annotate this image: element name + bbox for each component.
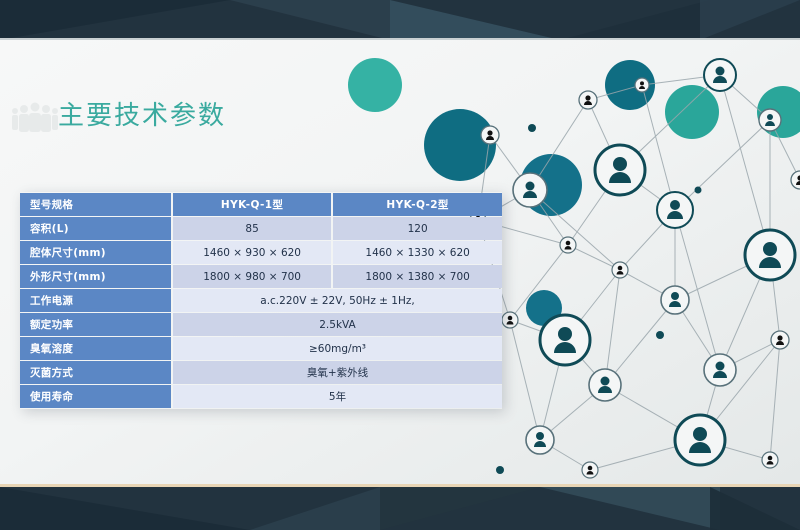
table-row: 使用寿命5年 — [20, 385, 502, 408]
bottom-decorative-band — [0, 487, 800, 530]
people-group-icon — [10, 102, 58, 137]
table-header-cell: HYK-Q-1型 — [173, 193, 331, 216]
table-row: 外形尺寸(mm)1800 × 980 × 7001800 × 1380 × 70… — [20, 265, 502, 288]
table-header-row: 型号规格HYK-Q-1型HYK-Q-2型 — [20, 193, 502, 216]
table-cell: 85 — [173, 217, 331, 240]
table-cell: 1800 × 980 × 700 — [173, 265, 331, 288]
table-row-label: 容积(L) — [20, 217, 173, 240]
table-row: 腔体尺寸(mm)1460 × 930 × 6201460 × 1330 × 62… — [20, 241, 502, 264]
table-cell: 1800 × 1380 × 700 — [331, 265, 502, 288]
top-decorative-band — [0, 0, 800, 40]
table-cell: 120 — [331, 217, 502, 240]
table-row: 工作电源a.c.220V ± 22V, 50Hz ± 1Hz, — [20, 289, 502, 312]
table-header-cell: 型号规格 — [20, 193, 173, 216]
table-header-cell: HYK-Q-2型 — [331, 193, 502, 216]
table-row-label: 使用寿命 — [20, 385, 173, 408]
table-cell: 1460 × 930 × 620 — [173, 241, 331, 264]
table-cell-merged: ≥60mg/m³ — [173, 337, 502, 360]
table-row-label: 臭氧溶度 — [20, 337, 173, 360]
table-cell-merged: a.c.220V ± 22V, 50Hz ± 1Hz, — [173, 289, 502, 312]
table-cell-merged: 5年 — [173, 385, 502, 408]
slide-root: 主要技术参数 型号规格HYK-Q-1型HYK-Q-2型容积(L)85120腔体尺… — [0, 0, 800, 530]
table-row-label: 工作电源 — [20, 289, 173, 312]
table-row: 臭氧溶度≥60mg/m³ — [20, 337, 502, 360]
slide-content-area: 主要技术参数 型号规格HYK-Q-1型HYK-Q-2型容积(L)85120腔体尺… — [0, 40, 800, 485]
page-title: 主要技术参数 — [58, 95, 226, 132]
table-row-label: 腔体尺寸(mm) — [20, 241, 173, 264]
table-row: 灭菌方式臭氧+紫外线 — [20, 361, 502, 384]
table-row: 额定功率2.5kVA — [20, 313, 502, 336]
table-cell-merged: 2.5kVA — [173, 313, 502, 336]
page-title-wrap: 主要技术参数 — [58, 95, 226, 132]
table-row-label: 额定功率 — [20, 313, 173, 336]
table-row: 容积(L)85120 — [20, 217, 502, 240]
network-illustration — [470, 40, 800, 485]
table-cell-merged: 臭氧+紫外线 — [173, 361, 502, 384]
table-row-label: 灭菌方式 — [20, 361, 173, 384]
table-cell: 1460 × 1330 × 620 — [331, 241, 502, 264]
table-row-label: 外形尺寸(mm) — [20, 265, 173, 288]
spec-table: 型号规格HYK-Q-1型HYK-Q-2型容积(L)85120腔体尺寸(mm)14… — [20, 192, 502, 409]
decorative-circle-0 — [348, 58, 402, 112]
